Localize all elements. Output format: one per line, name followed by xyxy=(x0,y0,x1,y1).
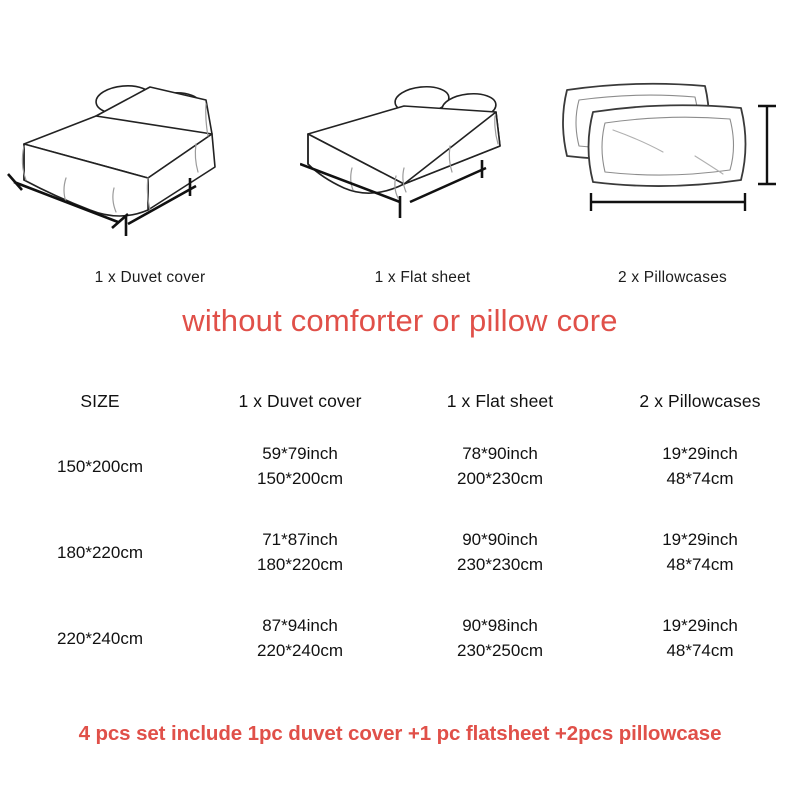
table-row: 150*200cm 59*79inch 150*200cm 78*90inch … xyxy=(0,424,800,510)
column-header-pillowcases: 2 x Pillowcases xyxy=(600,378,800,424)
illustration-duvet-cover: 1 x Duvet cover xyxy=(0,60,300,265)
cell-duvet: 87*94inch 220*240cm xyxy=(200,596,400,682)
table-row: 180*220cm 71*87inch 180*220cm 90*90inch … xyxy=(0,510,800,596)
value-cm: 48*74cm xyxy=(600,639,800,664)
value-cm: 220*240cm xyxy=(200,639,400,664)
column-header-duvet-cover: 1 x Duvet cover xyxy=(200,378,400,424)
cell-size: 150*200cm xyxy=(0,424,200,510)
illustration-caption: 1 x Flat sheet xyxy=(300,269,545,287)
illustration-caption: 1 x Duvet cover xyxy=(0,269,300,287)
cell-flat-sheet: 78*90inch 200*230cm xyxy=(400,424,600,510)
headline-without-comforter: without comforter or pillow core xyxy=(0,303,800,339)
value-inch: 87*94inch xyxy=(200,614,400,639)
illustration-pillowcases: 2 x Pillowcases xyxy=(545,60,800,265)
duvet-cover-icon xyxy=(0,60,300,245)
footnote-set-contents: 4 pcs set include 1pc duvet cover +1 pc … xyxy=(0,722,800,746)
flat-sheet-icon xyxy=(300,60,545,245)
value-inch: 78*90inch xyxy=(400,442,600,467)
illustration-caption: 2 x Pillowcases xyxy=(545,269,800,287)
value-inch: 19*29inch xyxy=(600,614,800,639)
cell-pillowcases: 19*29inch 48*74cm xyxy=(600,424,800,510)
value-inch: 71*87inch xyxy=(200,528,400,553)
cell-pillowcases: 19*29inch 48*74cm xyxy=(600,596,800,682)
value-inch: 59*79inch xyxy=(200,442,400,467)
value-inch: 90*98inch xyxy=(400,614,600,639)
illustration-row: 1 x Duvet cover xyxy=(0,60,800,265)
column-header-size: SIZE xyxy=(0,378,200,424)
value-cm: 48*74cm xyxy=(600,467,800,492)
illustration-flat-sheet: 1 x Flat sheet xyxy=(300,60,545,265)
size-chart-table: SIZE 1 x Duvet cover 1 x Flat sheet 2 x … xyxy=(0,378,800,682)
value-inch: 90*90inch xyxy=(400,528,600,553)
cell-size: 180*220cm xyxy=(0,510,200,596)
cell-size: 220*240cm xyxy=(0,596,200,682)
cell-pillowcases: 19*29inch 48*74cm xyxy=(600,510,800,596)
value-cm: 180*220cm xyxy=(200,553,400,578)
value-cm: 230*230cm xyxy=(400,553,600,578)
value-cm: 150*200cm xyxy=(200,467,400,492)
table-row: 220*240cm 87*94inch 220*240cm 90*98inch … xyxy=(0,596,800,682)
value-cm: 230*250cm xyxy=(400,639,600,664)
value-inch: 19*29inch xyxy=(600,442,800,467)
cell-flat-sheet: 90*98inch 230*250cm xyxy=(400,596,600,682)
table-header-row: SIZE 1 x Duvet cover 1 x Flat sheet 2 x … xyxy=(0,378,800,424)
cell-duvet: 59*79inch 150*200cm xyxy=(200,424,400,510)
product-size-infographic: 1 x Duvet cover xyxy=(0,0,800,800)
cell-duvet: 71*87inch 180*220cm xyxy=(200,510,400,596)
pillowcases-icon xyxy=(545,60,800,245)
cell-flat-sheet: 90*90inch 230*230cm xyxy=(400,510,600,596)
value-cm: 200*230cm xyxy=(400,467,600,492)
value-cm: 48*74cm xyxy=(600,553,800,578)
value-inch: 19*29inch xyxy=(600,528,800,553)
column-header-flat-sheet: 1 x Flat sheet xyxy=(400,378,600,424)
